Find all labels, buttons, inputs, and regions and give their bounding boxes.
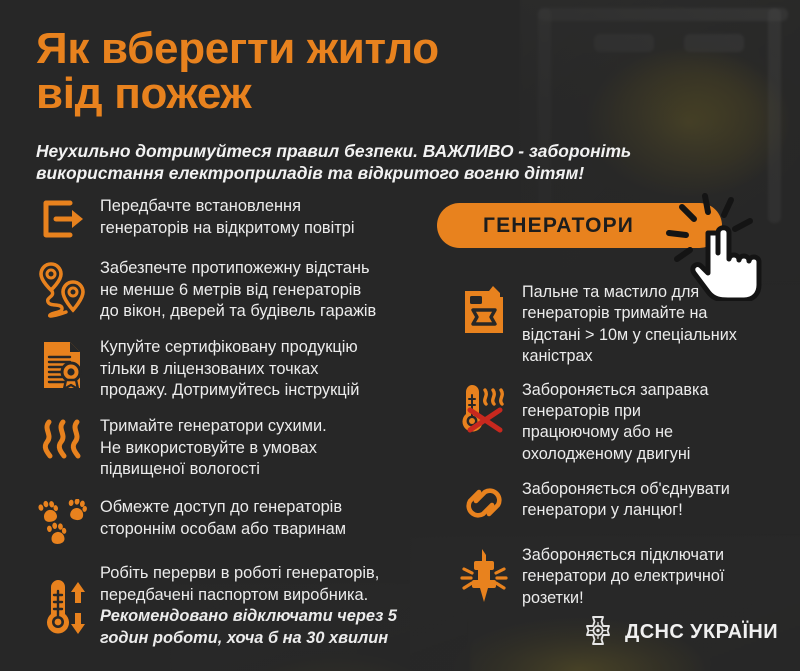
text-line: Обмежте доступ до генераторів <box>100 497 426 519</box>
text-line: генераторів при <box>522 401 786 422</box>
text-line: годин роботи, хоча б на 30 хвилин <box>100 628 426 650</box>
page-subtitle: Неухильно дотримуйтеся правил безпеки. В… <box>36 140 696 184</box>
page-title-line-2: від пожеж <box>36 71 636 116</box>
text-line: охолодженому двигуні <box>522 444 786 465</box>
text-line: Не використовуйте в умовах <box>100 438 426 460</box>
power-plug-spark-icon <box>446 545 522 605</box>
text-line: Пальне та мастило для <box>522 282 786 303</box>
text-line: генераторів на відкритому повітрі <box>100 218 426 240</box>
text-line: не менше 6 метрів від генераторів <box>100 280 426 302</box>
text-line: каністрах <box>522 346 786 367</box>
list-item-text: Забезпечте протипожежну відстань не менш… <box>100 258 426 323</box>
list-item: Купуйте сертифіковану продукцію тільки в… <box>26 337 426 402</box>
list-item: Обмежте доступ до генераторів стороннім … <box>26 497 426 545</box>
text-line: передбачені паспортом виробника. <box>100 585 426 607</box>
hot-thermometer-forbidden-icon <box>446 380 522 436</box>
subtitle-line-2: використання електроприладів та відкрито… <box>36 162 696 184</box>
text-line: працюючому або не <box>522 422 786 443</box>
list-item: Забороняється підключати генератори до е… <box>446 545 786 609</box>
footer-logo: ДСНС УКРАЇНИ <box>581 615 778 649</box>
exit-arrow-icon <box>26 196 100 240</box>
text-line: Тримайте генератори сухими. <box>100 416 426 438</box>
generators-button-area: ГЕНЕРАТОРИ <box>437 203 722 248</box>
text-line: генераторів тримайте на <box>522 303 786 324</box>
list-item-text: Забороняється заправка генераторів при п… <box>522 380 786 466</box>
text-line: Забороняється об'єднувати <box>522 479 786 500</box>
list-item: Тримайте генератори сухими. Не використо… <box>26 416 426 481</box>
list-item-text: Тримайте генератори сухими. Не використо… <box>100 416 426 481</box>
list-item: Забезпечте протипожежну відстань не менш… <box>26 258 426 323</box>
list-item: Забороняється об'єднувати генератори у л… <box>446 479 786 525</box>
fuel-canister-icon <box>446 282 522 336</box>
left-recommendations-column: Передбачте встановлення генераторів на в… <box>26 196 426 668</box>
list-item-text: Передбачте встановлення генераторів на в… <box>100 196 426 239</box>
paw-prints-icon <box>26 497 100 545</box>
generators-button[interactable]: ГЕНЕРАТОРИ <box>437 203 722 248</box>
certificate-document-icon <box>26 337 100 391</box>
list-item-text: Купуйте сертифіковану продукцію тільки в… <box>100 337 426 402</box>
right-prohibitions-column: Пальне та мастило для генераторів тримай… <box>446 282 786 627</box>
text-line: Забезпечте протипожежну відстань <box>100 258 426 280</box>
list-item-text: Забороняється об'єднувати генератори у л… <box>522 479 786 522</box>
list-item: Забороняється заправка генераторів при п… <box>446 380 786 466</box>
page-title-line-1: Як вберегти житло <box>36 26 636 71</box>
list-item-text: Обмежте доступ до генераторів стороннім … <box>100 497 426 540</box>
footer-logo-text: ДСНС УКРАЇНИ <box>625 621 778 644</box>
text-line: генератори до електричної <box>522 566 786 587</box>
steam-humidity-icon <box>26 416 100 462</box>
text-line: Передбачте встановлення <box>100 196 426 218</box>
text-line: Забороняється заправка <box>522 380 786 401</box>
list-item: Передбачте встановлення генераторів на в… <box>26 196 426 240</box>
text-line: до вікон, дверей та будівель гаражів <box>100 301 426 323</box>
text-line: генератори у ланцюг! <box>522 500 786 521</box>
text-line: Рекомендовано відключати через 5 <box>100 606 426 628</box>
list-item-text: Пальне та мастило для генераторів тримай… <box>522 282 786 368</box>
map-pins-distance-icon <box>26 258 100 320</box>
text-line: Забороняється підключати <box>522 545 786 566</box>
infographic-poster: Як вберегти житло від пожеж Неухильно до… <box>0 0 800 671</box>
page-header: Як вберегти житло від пожеж <box>36 26 636 117</box>
text-line: тільки в ліцензованих точках <box>100 359 426 381</box>
text-line: розетки! <box>522 588 786 609</box>
text-line: підвищеної вологості <box>100 459 426 481</box>
text-line: продажу. Дотримуйтесь інструкцій <box>100 380 426 402</box>
text-line: відстані > 10м у спеціальних <box>522 325 786 346</box>
list-item-text: Робіть перерви в роботі генераторів, пер… <box>100 563 426 650</box>
text-line: Купуйте сертифіковану продукцію <box>100 337 426 359</box>
text-line: стороннім особам або тваринам <box>100 519 426 541</box>
list-item: Пальне та мастило для генераторів тримай… <box>446 282 786 368</box>
thermometer-arrows-icon <box>26 563 100 639</box>
list-item: Робіть перерви в роботі генераторів, пер… <box>26 563 426 650</box>
list-item-text: Забороняється підключати генератори до е… <box>522 545 786 609</box>
subtitle-line-1: Неухильно дотримуйтеся правил безпеки. В… <box>36 140 696 162</box>
chain-link-icon <box>446 479 522 525</box>
text-line: Робіть перерви в роботі генераторів, <box>100 563 426 585</box>
dsns-cross-emblem-icon <box>581 615 615 649</box>
